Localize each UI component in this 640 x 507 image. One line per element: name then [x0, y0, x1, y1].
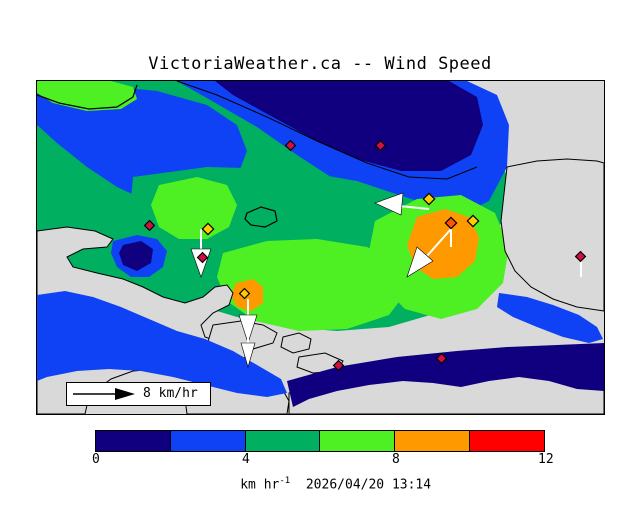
colorbar-units-and-timestamp: km hr-1 2026/04/20 13:14 [0, 461, 640, 507]
colorbar-segment-5 [469, 431, 544, 451]
colorbar-segment-4 [394, 431, 469, 451]
wind-arrow-icon [71, 386, 141, 402]
wind-scale-label: 8 km/hr [143, 386, 198, 402]
colorbar[interactable] [95, 430, 545, 452]
colorbar-segment-2 [245, 431, 320, 451]
wind-scale-legend: 8 km/hr [66, 382, 211, 406]
colorbar-segment-1 [170, 431, 245, 451]
wind-speed-map[interactable] [36, 80, 605, 415]
map-canvas [37, 81, 604, 414]
colorbar-segment-3 [319, 431, 394, 451]
colorbar-segment-0 [96, 431, 170, 451]
colorbar-units-exponent: -1 [279, 476, 290, 486]
screenshot-root: VictoriaWeather.ca -- Wind Speed [0, 0, 640, 480]
page-title: VictoriaWeather.ca -- Wind Speed [0, 54, 640, 74]
